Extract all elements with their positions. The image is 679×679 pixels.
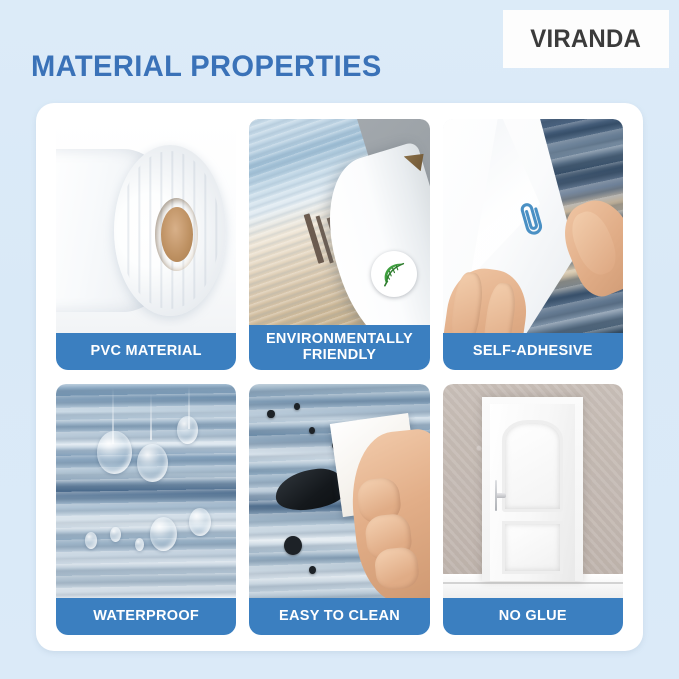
feature-label-self-adhesive: SELF-ADHESIVE bbox=[443, 333, 623, 370]
door-handle-shape bbox=[495, 493, 507, 499]
feature-card-easy-to-clean[interactable]: EASY TO CLEAN bbox=[249, 384, 429, 635]
door-frame-shape bbox=[482, 397, 583, 581]
feature-card-self-adhesive[interactable]: SELF-ADHESIVE bbox=[443, 119, 623, 370]
self-adhesive-image bbox=[443, 119, 623, 333]
leaf-badge-icon bbox=[371, 251, 417, 297]
eco-roll-image bbox=[249, 119, 429, 333]
water-droplet bbox=[177, 416, 199, 444]
pvc-core-inner-shape bbox=[161, 207, 193, 263]
features-panel: PVC MATERIAL bbox=[36, 103, 643, 651]
door-panel-bottom-shape bbox=[502, 521, 563, 574]
eco-roll-illustration bbox=[249, 119, 429, 333]
stain-spot bbox=[309, 566, 316, 575]
brand-logo-text: VIRANDA bbox=[531, 25, 642, 54]
stain-spot bbox=[294, 403, 299, 409]
water-droplet bbox=[135, 538, 144, 551]
pvc-roll-illustration bbox=[56, 119, 236, 333]
no-glue-image bbox=[443, 384, 623, 598]
door-illustration bbox=[443, 384, 623, 598]
pvc-roll-image bbox=[56, 119, 236, 333]
waterproof-illustration bbox=[56, 384, 236, 598]
water-droplet bbox=[189, 508, 211, 536]
feature-label-waterproof: WATERPROOF bbox=[56, 598, 236, 635]
water-droplet bbox=[137, 444, 168, 483]
page-header: MATERIAL PROPERTIES VIRANDA bbox=[0, 0, 679, 103]
brand-logo: VIRANDA bbox=[503, 10, 669, 68]
stain-spot bbox=[267, 410, 274, 419]
waterproof-image bbox=[56, 384, 236, 598]
water-droplet bbox=[150, 517, 177, 551]
stain-spot bbox=[284, 536, 302, 555]
drop-streak bbox=[150, 393, 152, 440]
feature-card-no-glue[interactable]: NO GLUE bbox=[443, 384, 623, 635]
peel-illustration bbox=[443, 119, 623, 333]
easy-to-clean-illustration bbox=[249, 384, 429, 598]
feature-label-no-glue: NO GLUE bbox=[443, 598, 623, 635]
door-slab-shape bbox=[490, 404, 575, 581]
door-panel-top-shape bbox=[502, 420, 563, 512]
feature-label-easy-to-clean: EASY TO CLEAN bbox=[249, 598, 429, 635]
water-droplet bbox=[97, 431, 131, 474]
finger-shape bbox=[373, 546, 419, 591]
features-grid: PVC MATERIAL bbox=[56, 119, 623, 635]
water-droplet bbox=[85, 532, 98, 549]
feature-card-pvc-material[interactable]: PVC MATERIAL bbox=[56, 119, 236, 370]
feature-card-waterproof[interactable]: WATERPROOF bbox=[56, 384, 236, 635]
feature-card-environmentally-friendly[interactable]: ENVIRONMENTALLY FRIENDLY bbox=[249, 119, 429, 370]
page-title: MATERIAL PROPERTIES bbox=[31, 50, 382, 84]
water-droplet bbox=[110, 527, 121, 542]
feature-label-pvc-material: PVC MATERIAL bbox=[56, 333, 236, 370]
feature-label-environmentally-friendly: ENVIRONMENTALLY FRIENDLY bbox=[249, 325, 429, 370]
easy-to-clean-image bbox=[249, 384, 429, 598]
stain-spot bbox=[309, 427, 315, 434]
